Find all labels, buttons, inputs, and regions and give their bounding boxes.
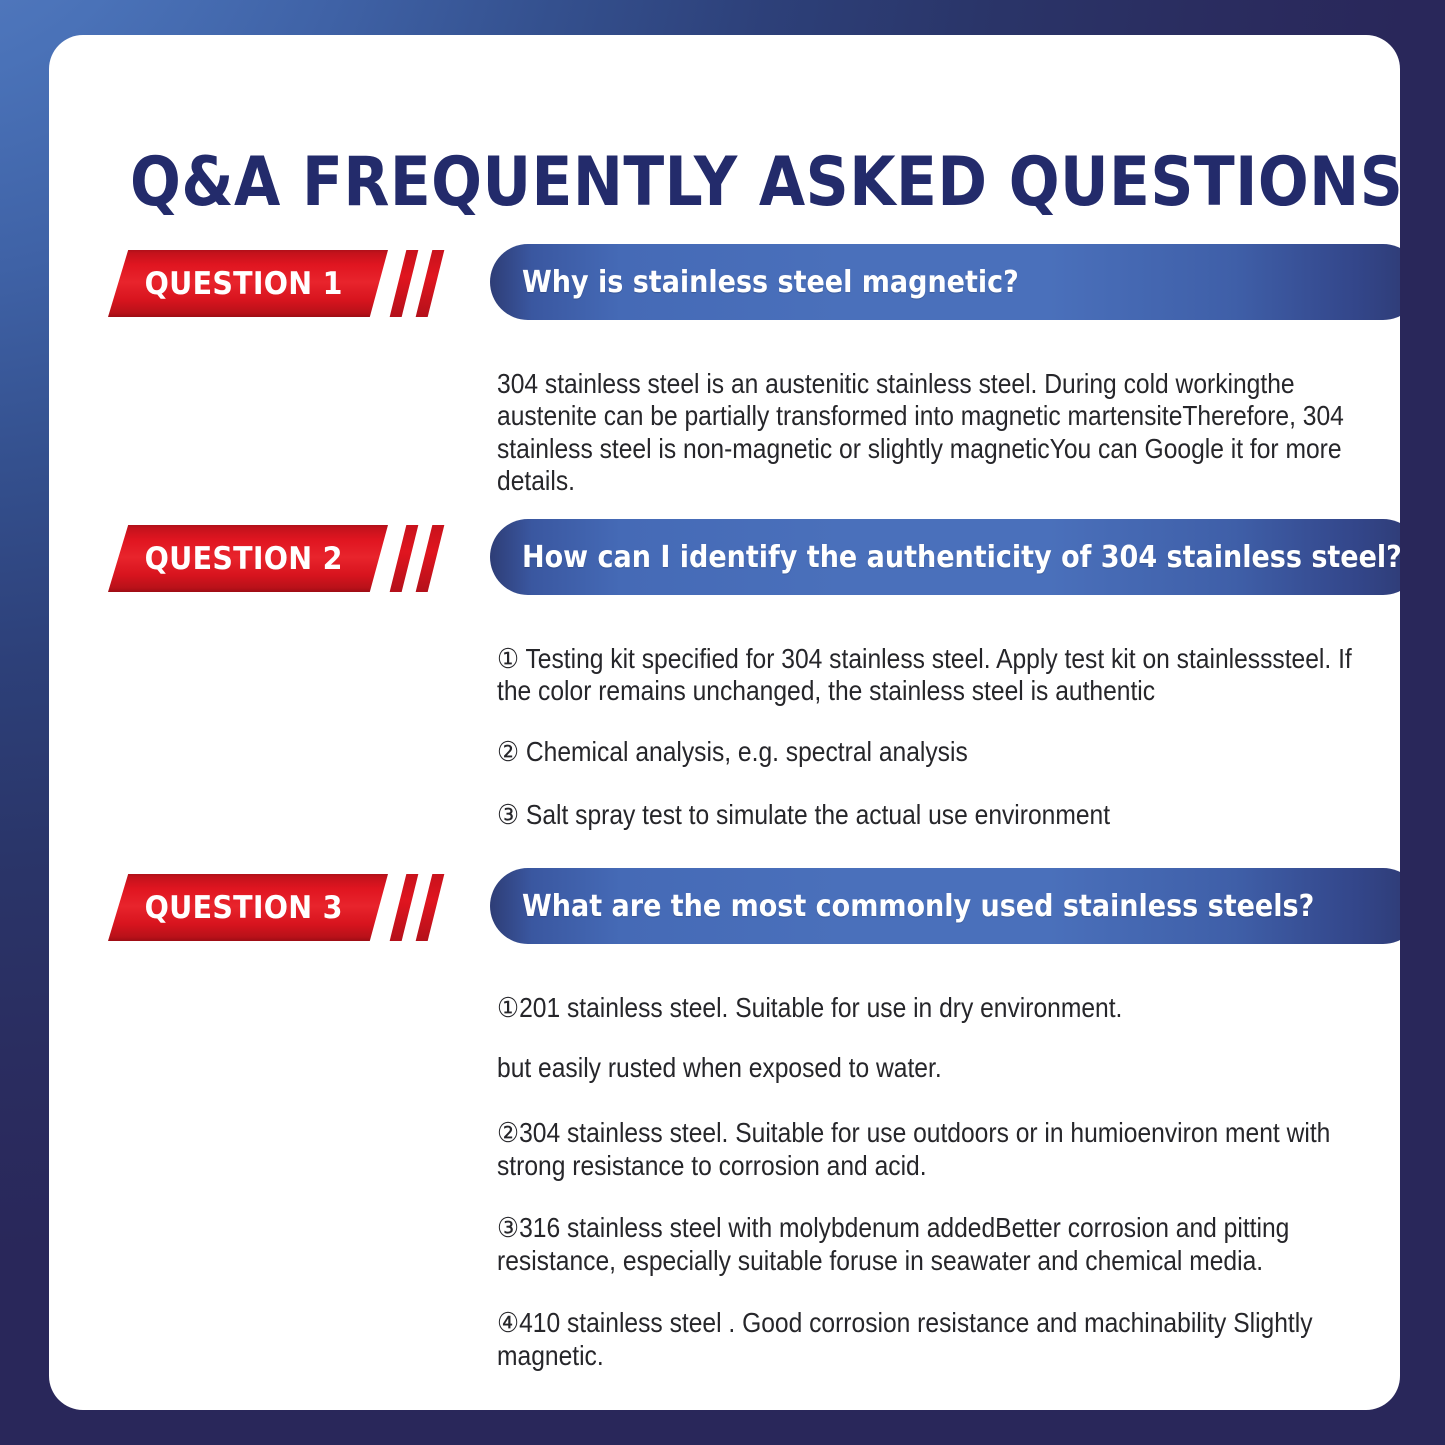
qa-block-1: QUESTION 1 Why is stainless steel magnet…: [49, 244, 1400, 320]
question-pill-3[interactable]: What are the most commonly used stainles…: [490, 868, 1400, 944]
slash-divider-icon-1a: [390, 250, 419, 317]
qa-answer-2: ① Testing kit specified for 304 stainles…: [497, 615, 1397, 859]
answer-paragraph: 304 stainless steel is an austenitic sta…: [497, 368, 1383, 498]
question-text-1: Why is stainless steel magnetic?: [522, 265, 1019, 300]
answer-paragraph: ②304 stainless steel. Suitable for use o…: [497, 1117, 1383, 1182]
slash-divider-icon-2b: [416, 525, 445, 592]
faq-card: Q&A FREQUENTLY ASKED QUESTIONS QUESTION …: [49, 35, 1400, 1410]
question-badge-1[interactable]: QUESTION 1: [108, 250, 388, 317]
qa-header-1: QUESTION 1 Why is stainless steel magnet…: [49, 244, 1400, 320]
answer-paragraph: ① Testing kit specified for 304 stainles…: [497, 643, 1383, 708]
qa-header-3: QUESTION 3 What are the most commonly us…: [49, 868, 1400, 944]
answer-paragraph: but easily rusted when exposed to water.: [497, 1052, 1383, 1085]
answer-paragraph: ③ Salt spray test to simulate the actual…: [497, 799, 1383, 832]
slash-divider-icon-2a: [390, 525, 419, 592]
question-pill-1[interactable]: Why is stainless steel magnetic?: [490, 244, 1400, 320]
slash-divider-icon-3a: [390, 874, 419, 941]
page-title: Q&A FREQUENTLY ASKED QUESTIONS: [130, 149, 1319, 217]
slash-divider-icon-3b: [416, 874, 445, 941]
qa-answer-3: ①201 stainless steel. Suitable for use i…: [497, 964, 1397, 1400]
question-badge-label-1: QUESTION 1: [145, 266, 343, 302]
question-text-2: How can I identify the authenticity of 3…: [522, 540, 1400, 575]
answer-paragraph: ④410 stainless steel . Good corrosion re…: [497, 1307, 1383, 1372]
answer-paragraph: ③316 stainless steel with molybdenum add…: [497, 1212, 1383, 1277]
qa-header-2: QUESTION 2 How can I identify the authen…: [49, 519, 1400, 595]
qa-block-3: QUESTION 3 What are the most commonly us…: [49, 868, 1400, 944]
faq-page-background: Q&A FREQUENTLY ASKED QUESTIONS QUESTION …: [0, 0, 1445, 1445]
answer-paragraph: ①201 stainless steel. Suitable for use i…: [497, 992, 1383, 1025]
question-text-3: What are the most commonly used stainles…: [522, 889, 1314, 924]
slash-divider-icon-1b: [416, 250, 445, 317]
answer-paragraph: ② Chemical analysis, e.g. spectral analy…: [497, 736, 1383, 769]
qa-block-2: QUESTION 2 How can I identify the authen…: [49, 519, 1400, 595]
question-badge-label-2: QUESTION 2: [145, 541, 343, 577]
question-badge-2[interactable]: QUESTION 2: [108, 525, 388, 592]
qa-answer-1: 304 stainless steel is an austenitic sta…: [497, 340, 1397, 525]
question-badge-3[interactable]: QUESTION 3: [108, 874, 388, 941]
question-badge-label-3: QUESTION 3: [145, 890, 343, 926]
question-pill-2[interactable]: How can I identify the authenticity of 3…: [490, 519, 1400, 595]
